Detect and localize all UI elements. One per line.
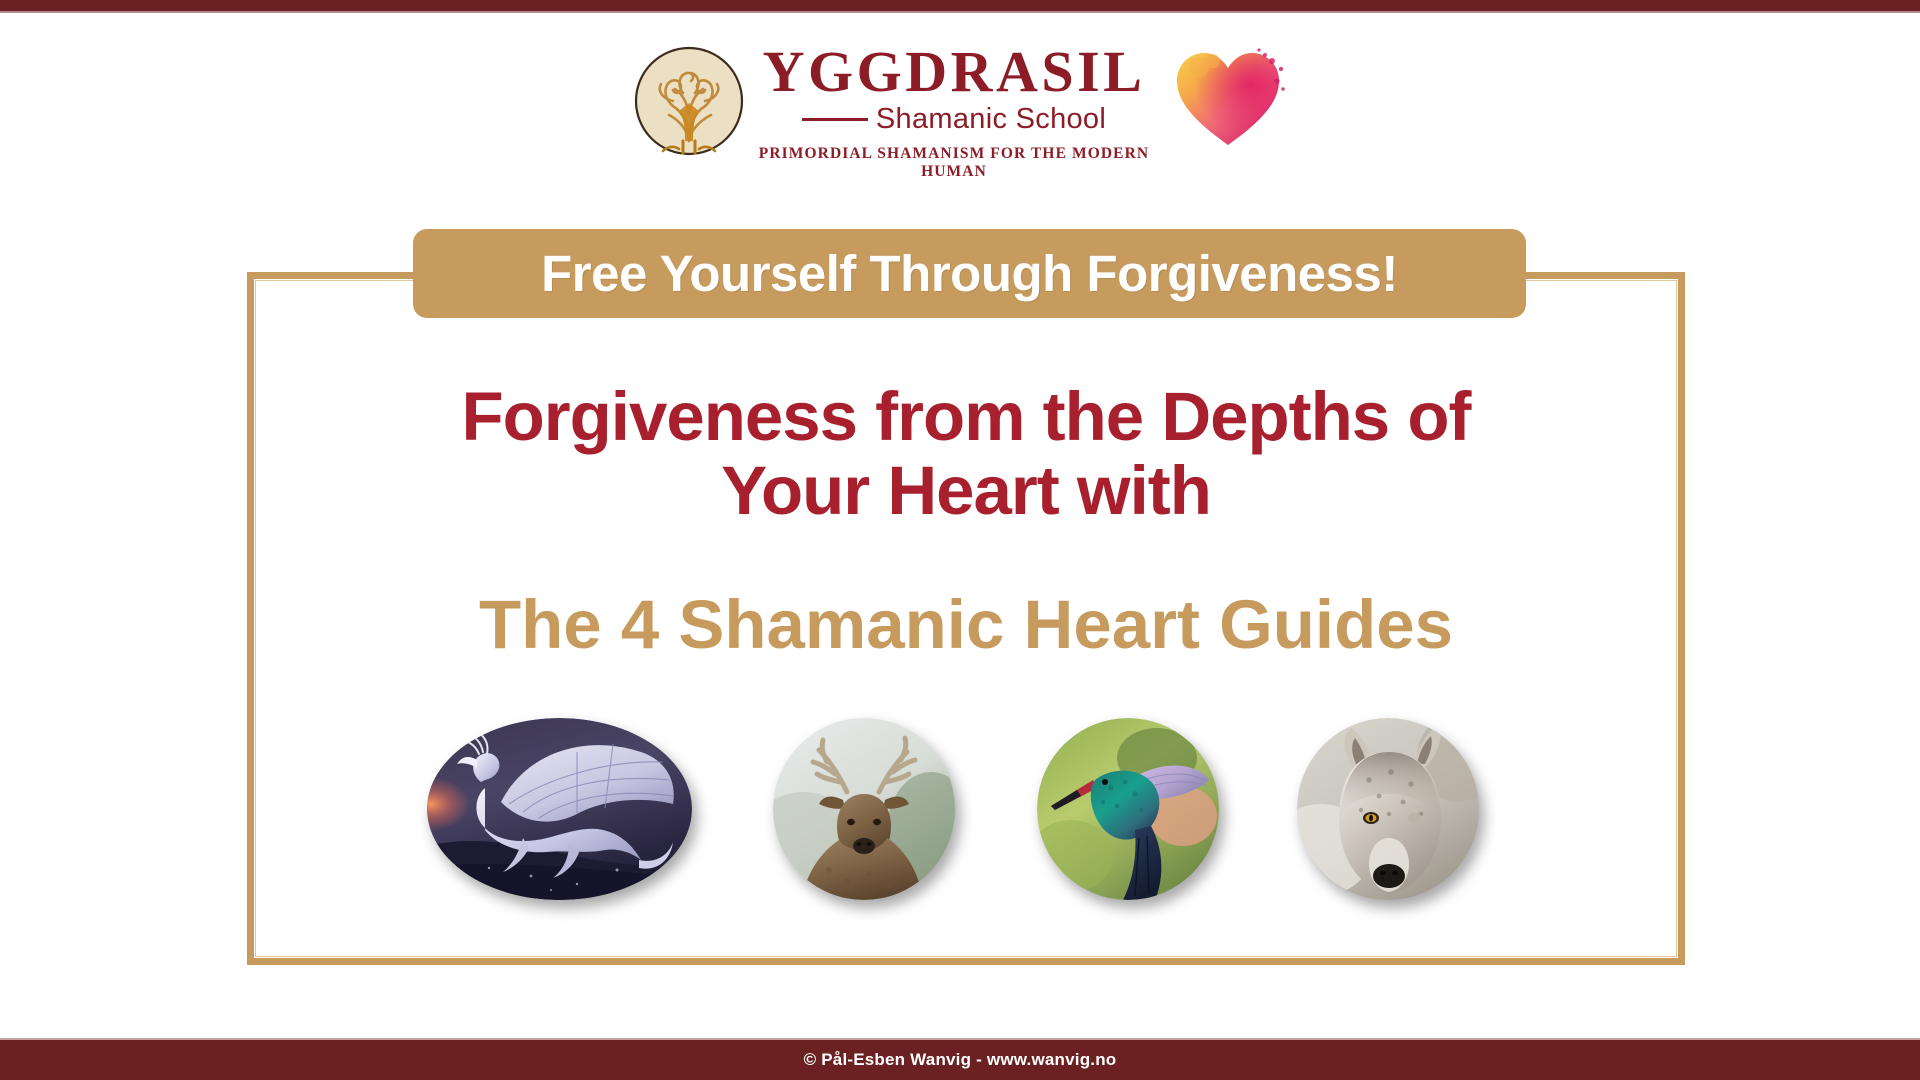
logo-tagline: PRIMORDIAL SHAMANISM FOR THE MODERN HUMA… xyxy=(731,145,1177,181)
logo-subtitle: Shamanic School xyxy=(876,105,1106,134)
stag-medallion-icon xyxy=(773,718,955,900)
footer-copyright: © Pål-Esben Wanvig - www.wanvig.no xyxy=(0,1040,1920,1080)
headline-line-2: Your Heart with xyxy=(247,454,1685,528)
tree-of-life-icon xyxy=(633,45,745,157)
top-accent-bar xyxy=(0,0,1920,11)
decorative-frame-taper xyxy=(248,272,388,279)
logo-subtitle-row: Shamanic School xyxy=(759,105,1149,134)
headline-line-1: Forgiveness from the Depths of xyxy=(247,380,1685,454)
top-accent-hairline xyxy=(0,11,1920,13)
watercolor-heart-icon xyxy=(1169,43,1287,153)
logo-rule xyxy=(802,118,868,121)
promo-banner: Free Yourself Through Forgiveness! xyxy=(413,229,1526,318)
headline-block: Forgiveness from the Depths of Your Hear… xyxy=(247,380,1685,528)
subheadline: The 4 Shamanic Heart Guides xyxy=(247,585,1685,664)
guide-medallion-row xyxy=(247,718,1685,918)
promo-banner-text: Free Yourself Through Forgiveness! xyxy=(541,244,1398,303)
dragon-medallion-icon xyxy=(427,718,692,900)
hummingbird-medallion-icon xyxy=(1037,718,1219,900)
brand-logo: YGGDRASIL Shamanic School PRIMORDIAL SHA… xyxy=(0,36,1920,166)
wolf-medallion-icon xyxy=(1297,718,1479,900)
logo-wordmark: YGGDRASIL xyxy=(759,43,1149,101)
logo-wordmark-group: YGGDRASIL Shamanic School PRIMORDIAL SHA… xyxy=(759,41,1149,161)
